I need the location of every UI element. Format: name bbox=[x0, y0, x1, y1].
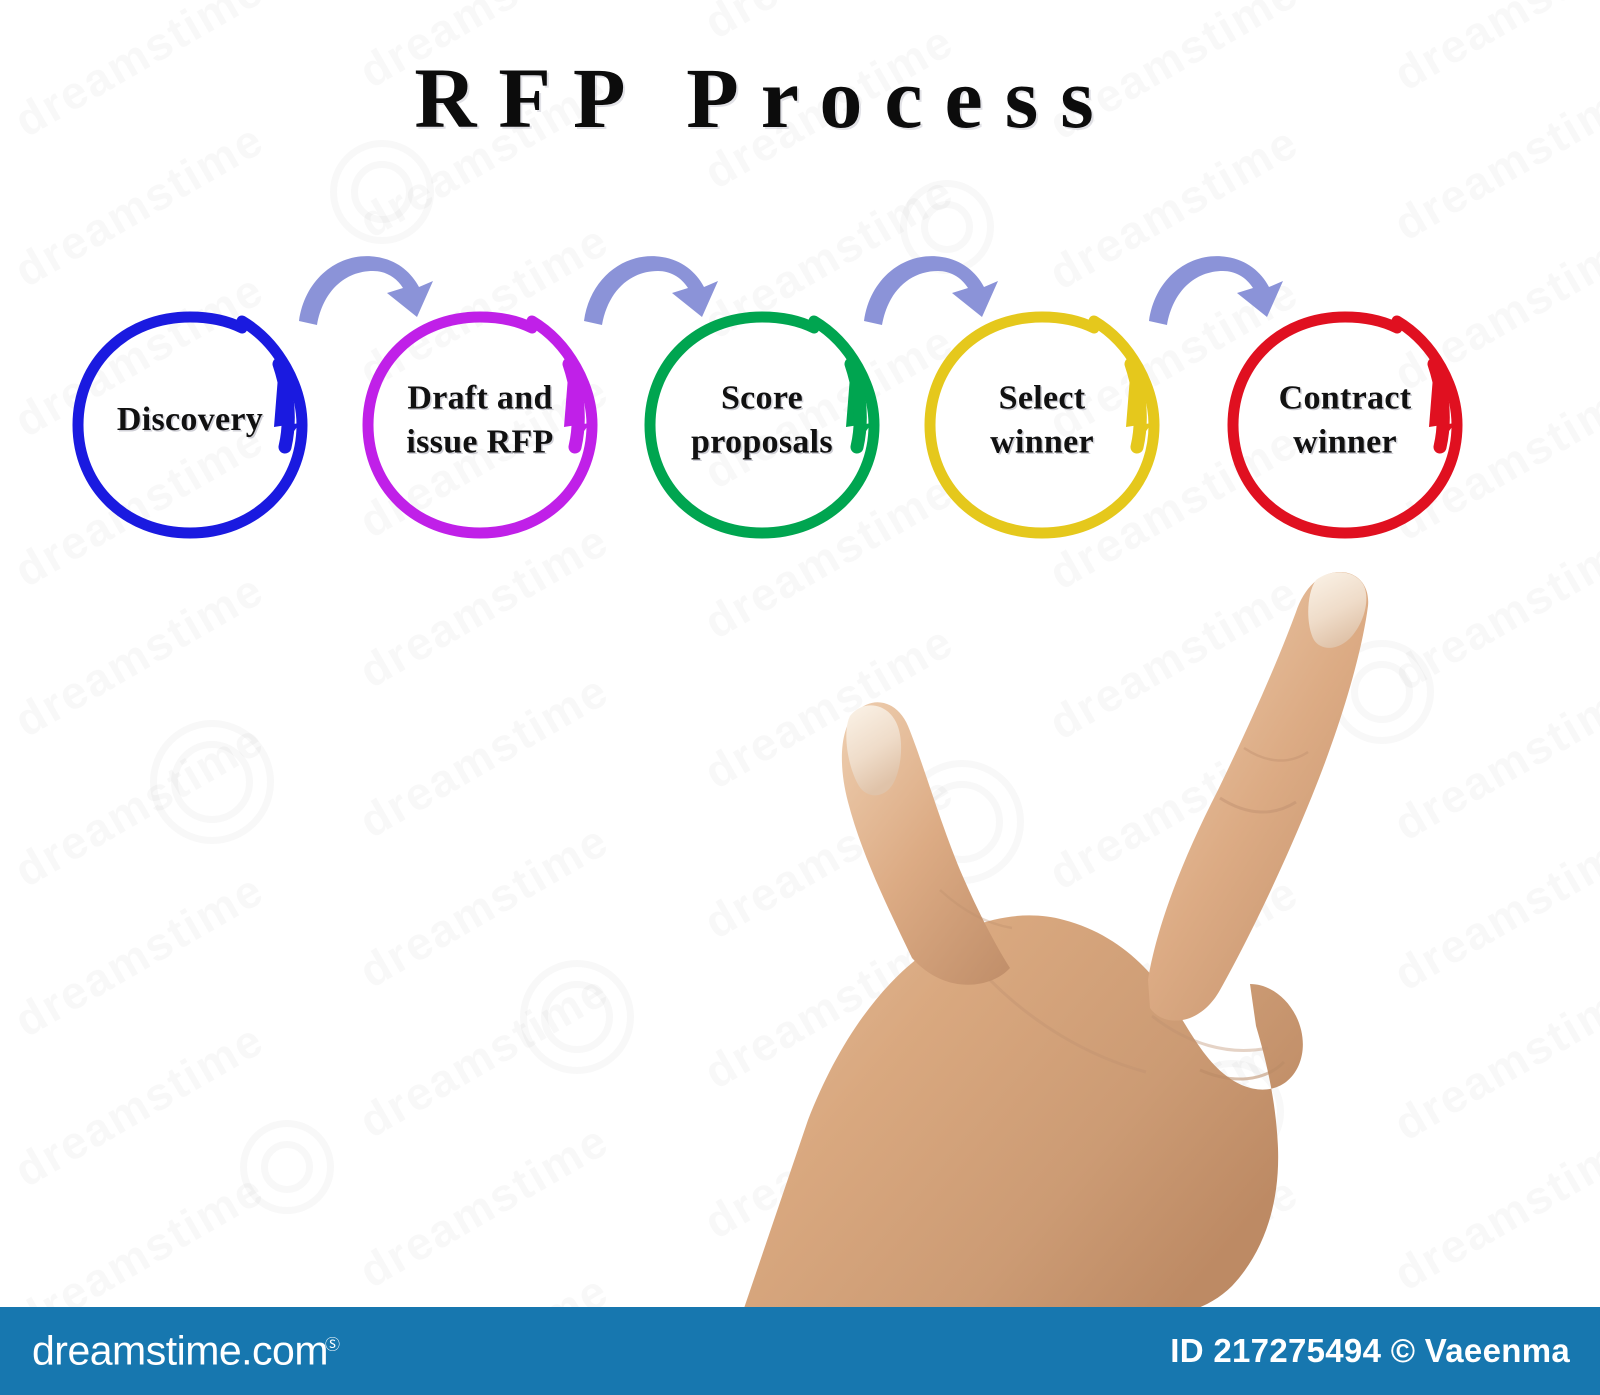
flow-arrow-3 bbox=[858, 243, 1008, 333]
flow-arrow-2 bbox=[578, 243, 728, 333]
dreamstime-logo-text: dreamstime.com bbox=[32, 1328, 328, 1374]
pointing-hand bbox=[640, 460, 1400, 1320]
image-credit: ID 217275494 © Vaeenma bbox=[1170, 1332, 1570, 1370]
curved-arrow-icon bbox=[578, 243, 728, 333]
step-4-line-2: winner bbox=[934, 420, 1150, 464]
hand-illustration bbox=[640, 460, 1400, 1320]
process-step-3-label: Score proposals bbox=[654, 376, 870, 463]
step-5-line-2: winner bbox=[1237, 420, 1453, 464]
step-2-line-2: issue RFP bbox=[372, 420, 588, 464]
footer-bar: dreamstime.comⓈ ID 217275494 © Vaeenma bbox=[0, 1307, 1600, 1395]
step-3-line-1: Score bbox=[721, 379, 803, 416]
flow-arrow-1 bbox=[293, 243, 443, 333]
registered-spiral-icon: Ⓢ bbox=[325, 1337, 340, 1354]
process-step-4-label: Select winner bbox=[934, 376, 1150, 463]
curved-arrow-icon bbox=[293, 243, 443, 333]
curved-arrow-icon bbox=[858, 243, 1008, 333]
process-step-5-label: Contract winner bbox=[1237, 376, 1453, 463]
dreamstime-logo[interactable]: dreamstime.comⓈ bbox=[32, 1328, 340, 1375]
process-step-2-label: Draft and issue RFP bbox=[372, 376, 588, 463]
process-step-1-label: Discovery bbox=[82, 398, 298, 442]
flow-arrow-4 bbox=[1143, 243, 1293, 333]
step-5-line-1: Contract bbox=[1279, 379, 1412, 416]
image-canvas: dreamstimedreamstimedreamstimedreamstime… bbox=[0, 0, 1600, 1395]
page-title: RFP Process bbox=[0, 48, 1530, 148]
process-step-1[interactable]: Discovery bbox=[74, 295, 306, 545]
step-3-line-2: proposals bbox=[654, 420, 870, 464]
curved-arrow-icon bbox=[1143, 243, 1293, 333]
step-1-line-1: Discovery bbox=[117, 401, 263, 438]
step-2-line-1: Draft and bbox=[407, 379, 552, 416]
step-4-line-1: Select bbox=[999, 379, 1086, 416]
